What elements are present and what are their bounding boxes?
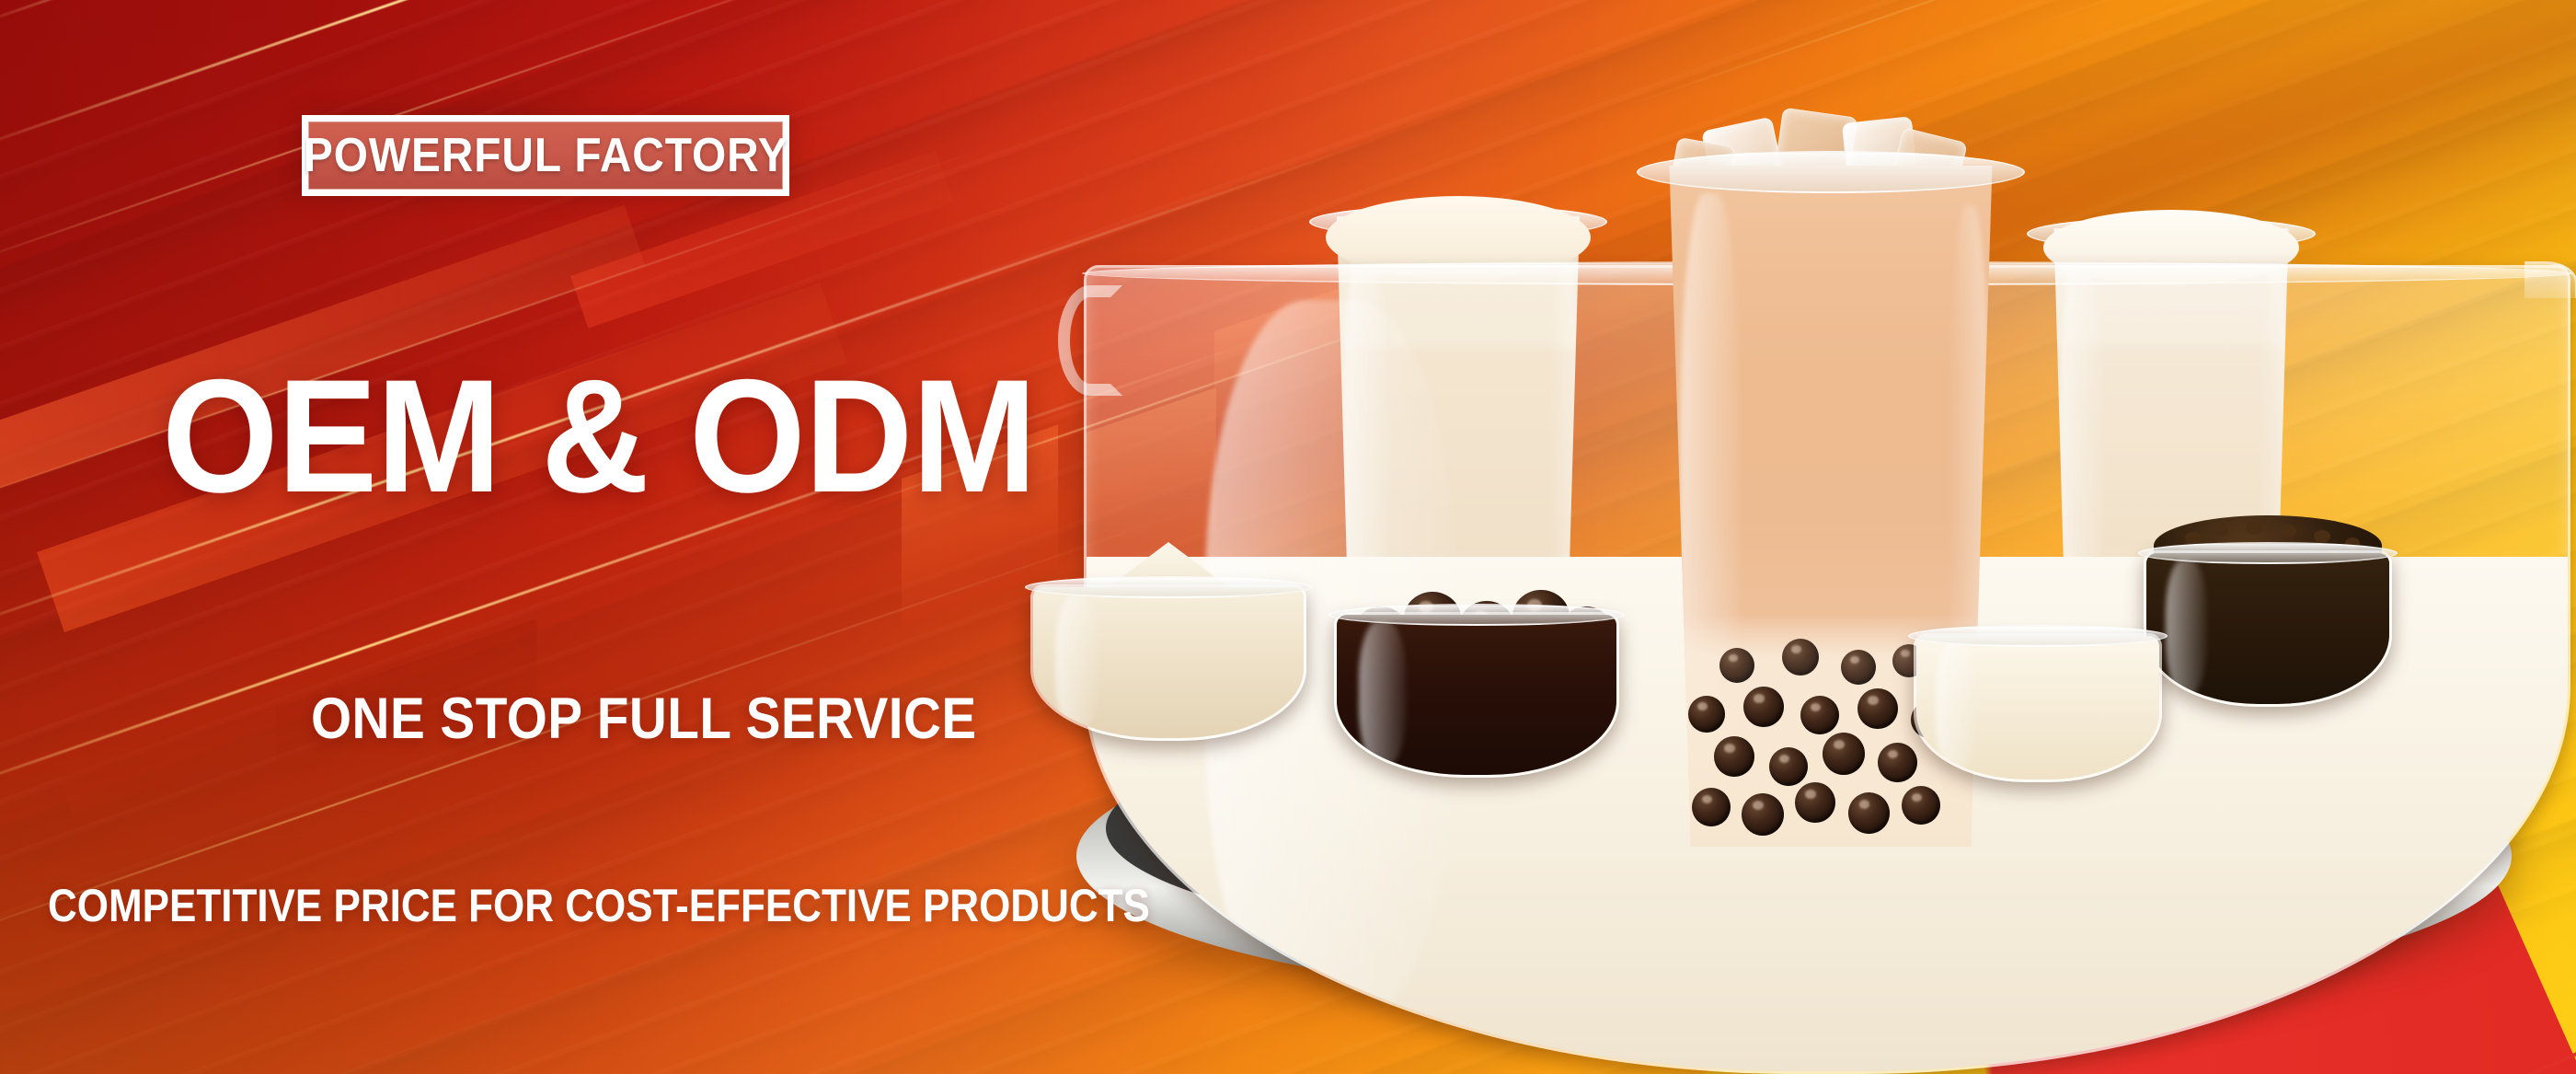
creamer-powder-bowl: [1030, 584, 1306, 741]
tapioca-pearl: [1823, 733, 1865, 775]
bowl-lip: [1908, 625, 2168, 647]
tea-leaf: [2214, 525, 2229, 537]
bowl-lip: [1025, 576, 1312, 598]
milk-bowl: [1914, 633, 2162, 782]
glass-gloss: [1936, 641, 1977, 770]
tapioca-pearl: [1800, 696, 1839, 734]
tapioca-pearl: [1769, 747, 1808, 786]
tapioca-pearl: [1782, 639, 1819, 676]
glass-gloss: [1359, 621, 1407, 766]
powerful-factory-badge: POWERFUL FACTORY: [302, 115, 789, 196]
bowl-lip: [1328, 604, 1625, 626]
bowl-lip: [2138, 542, 2398, 564]
subheadline: ONE STOP FULL SERVICE: [311, 686, 977, 752]
tapioca-pearl: [1743, 687, 1784, 727]
tagline: COMPETITIVE PRICE FOR COST-EFFECTIVE PRO…: [48, 879, 1150, 932]
tapioca-pearl: [1688, 696, 1725, 733]
tapioca-pearl: [1692, 788, 1731, 826]
tapioca-pearl: [1714, 736, 1754, 777]
tapioca-pearl: [1719, 648, 1754, 683]
tea-leaf: [2314, 530, 2330, 543]
glass-bowl: [2144, 550, 2392, 707]
tapioca-pearl: [1795, 782, 1835, 823]
tapioca-pearl: [1841, 650, 1876, 685]
cup-rim: [1637, 151, 2025, 193]
tapioca-pearl: [1902, 786, 1940, 825]
milk-pitcher: [1058, 248, 1274, 479]
tea-leaf-bowl: [2144, 550, 2392, 707]
tapioca-pearl: [1878, 743, 1917, 782]
tea-leaf: [2281, 525, 2296, 537]
headline: OEM & ODM: [162, 359, 1036, 515]
glass-gloss: [1055, 594, 1101, 730]
tapioca-pearl: [1848, 792, 1890, 834]
glass-bowl: [1914, 633, 2162, 782]
glass-gloss: [2166, 560, 2207, 696]
tapioca-pearl: [1742, 793, 1784, 836]
badge-inner-panel: POWERFUL FACTORY: [308, 121, 783, 190]
badge-label: POWERFUL FACTORY: [304, 128, 788, 183]
pitcher-spout: [2524, 261, 2576, 298]
glass-bowl: [1334, 612, 1619, 778]
tapioca-pearl-bowl: [1334, 612, 1619, 778]
tapioca-pearl: [1857, 688, 1898, 729]
glass-bowl: [1030, 584, 1306, 741]
tea-leaf: [2246, 521, 2263, 535]
promo-banner: POWERFUL FACTORY OEM & ODM ONE STOP FULL…: [0, 0, 2576, 1074]
product-photo-group: [1058, 248, 2576, 1074]
